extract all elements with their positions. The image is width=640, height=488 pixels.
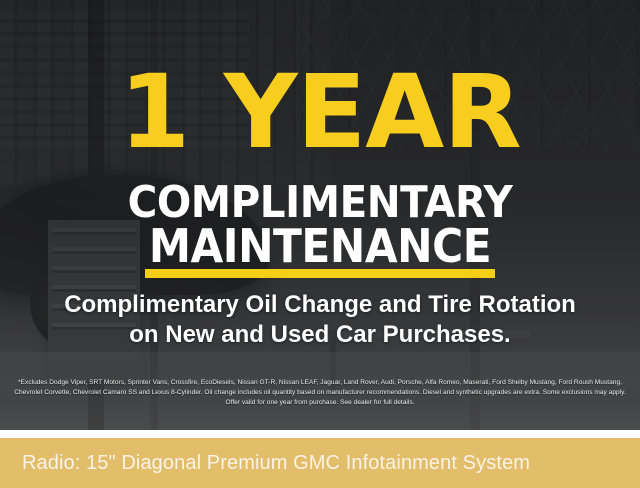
tagline: Complimentary Oil Change and Tire Rotati… <box>0 290 640 350</box>
hero-promo-image: 1 YEAR COMPLIMENTARY MAINTENANCE Complim… <box>0 0 640 430</box>
feature-caption-banner: Radio: 15" Diagonal Premium GMC Infotain… <box>0 438 640 488</box>
yellow-divider-bar <box>145 269 495 278</box>
headline-maintenance: MAINTENANCE <box>26 223 615 269</box>
feature-caption-text: Radio: 15" Diagonal Premium GMC Infotain… <box>0 451 530 475</box>
separator-gap <box>0 430 640 438</box>
tagline-line-2: on New and Used Car Purchases. <box>0 320 640 350</box>
hero-content: 1 YEAR COMPLIMENTARY MAINTENANCE Complim… <box>0 0 640 430</box>
headline-year: 1 YEAR <box>0 62 640 164</box>
disclaimer-fine-print: *Excludes Dodge Viper, SRT Motors, Sprin… <box>14 378 626 409</box>
promo-banner-screenshot: 1 YEAR COMPLIMENTARY MAINTENANCE Complim… <box>0 0 640 488</box>
tagline-line-1: Complimentary Oil Change and Tire Rotati… <box>0 290 640 320</box>
